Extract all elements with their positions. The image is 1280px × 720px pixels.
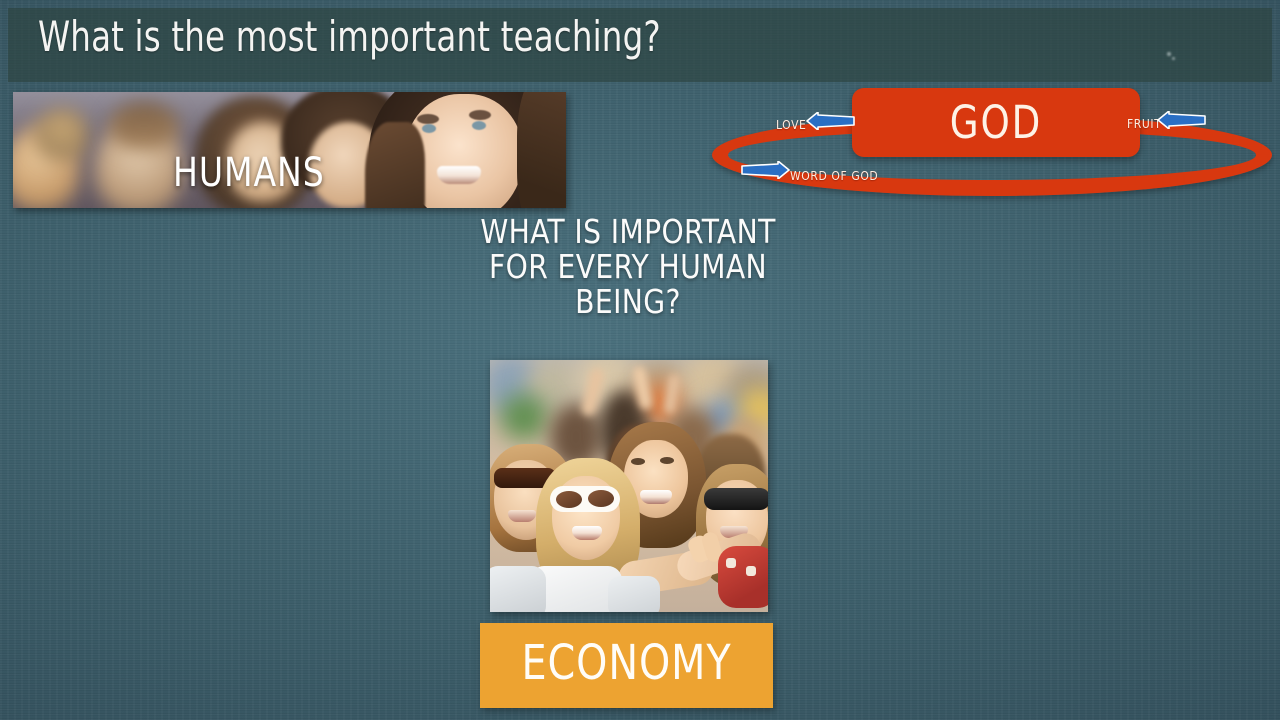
question-line-1: WHAT IS IMPORTANT bbox=[438, 214, 818, 249]
humans-caption: HUMANS bbox=[173, 150, 325, 196]
god-label: GOD bbox=[864, 96, 1129, 149]
background-speck bbox=[1167, 52, 1171, 56]
crowd-image-panel[interactable] bbox=[490, 360, 768, 612]
economy-banner[interactable]: ECONOMY bbox=[480, 623, 773, 708]
god-box[interactable]: GOD bbox=[852, 88, 1140, 157]
humans-image-panel[interactable]: HUMANS bbox=[13, 92, 566, 208]
question-line-2: FOR EVERY HUMAN bbox=[438, 249, 818, 284]
arrow-left-icon bbox=[1155, 111, 1207, 129]
god-cycle-diagram[interactable]: GOD LOVE FRUIT WORD OF GOD bbox=[706, 86, 1280, 204]
page-title: What is the most important teaching? bbox=[38, 12, 661, 61]
arrow-left-icon bbox=[804, 112, 856, 130]
arrow-right-icon bbox=[740, 161, 792, 179]
cycle-label-word-of-god: WORD OF GOD bbox=[790, 169, 878, 183]
question-line-3: BEING? bbox=[438, 284, 818, 319]
slide-title-bar: What is the most important teaching? bbox=[8, 8, 1272, 82]
economy-label: ECONOMY bbox=[492, 635, 762, 691]
center-question: WHAT IS IMPORTANT FOR EVERY HUMAN BEING? bbox=[428, 214, 828, 319]
cycle-label-love: LOVE bbox=[776, 118, 806, 132]
presentation-slide: What is the most important teaching? bbox=[0, 0, 1280, 720]
background-speck bbox=[1172, 57, 1175, 60]
